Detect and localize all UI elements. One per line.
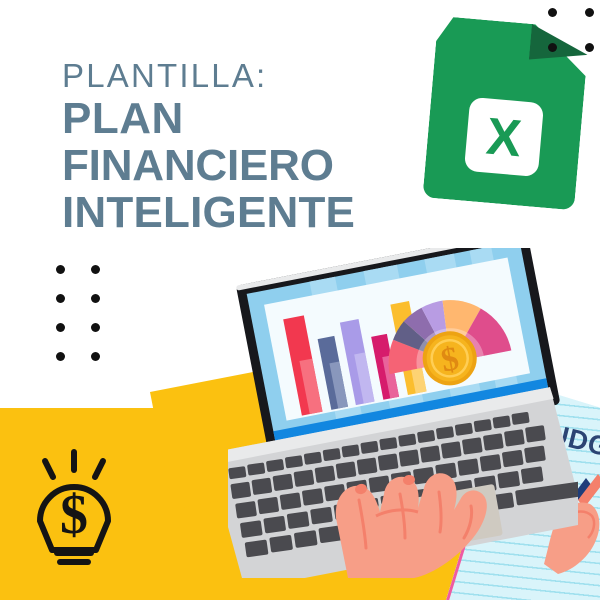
decorative-dot xyxy=(91,265,100,274)
keyboard-key[interactable] xyxy=(524,445,546,463)
keyboard-key[interactable] xyxy=(293,470,314,487)
keyboard-key[interactable] xyxy=(511,412,529,425)
keyboard-key[interactable] xyxy=(263,516,286,534)
dot-grid-left xyxy=(56,265,100,361)
excel-letter-x: X xyxy=(464,97,544,177)
lightbulb-dollar-sign: $ xyxy=(60,484,88,546)
keyboard-key[interactable] xyxy=(230,482,251,499)
keyboard-key[interactable] xyxy=(455,423,473,436)
decorative-dot xyxy=(56,294,65,303)
decorative-dot xyxy=(91,294,100,303)
decorative-dot xyxy=(91,352,100,361)
decorative-dot xyxy=(585,43,594,52)
keyboard-key[interactable] xyxy=(315,465,336,482)
keyboard-key[interactable] xyxy=(360,441,378,454)
keyboard-key[interactable] xyxy=(379,437,397,450)
keyboard-key[interactable] xyxy=(341,444,359,457)
headline-kicker: PLANTILLA: xyxy=(62,57,462,95)
keyboard-key[interactable] xyxy=(294,530,318,548)
keyboard-key[interactable] xyxy=(441,441,462,458)
headline-block: PLANTILLA: PLAN FINANCIERO INTELIGENTE xyxy=(62,57,462,236)
headline-line-3: INTELIGENTE xyxy=(62,189,462,236)
keyboard-key[interactable] xyxy=(287,511,310,529)
lightbulb-rays xyxy=(45,452,103,477)
keyboard-key[interactable] xyxy=(457,458,479,476)
keyboard-key[interactable] xyxy=(310,507,333,525)
keyboard-key[interactable] xyxy=(399,449,420,466)
keyboard-key[interactable] xyxy=(398,434,416,447)
keyboard-key[interactable] xyxy=(521,466,544,484)
keyboard-key[interactable] xyxy=(272,474,293,491)
dot-grid-top-right xyxy=(548,8,594,52)
keyboard-key[interactable] xyxy=(302,488,324,506)
keyboard-key[interactable] xyxy=(285,455,303,468)
keyboard-key[interactable] xyxy=(417,430,435,443)
headline-line-2: FINANCIERO xyxy=(62,142,462,189)
laptop-illustration: $ xyxy=(228,248,578,578)
keyboard-key[interactable] xyxy=(266,459,284,472)
keyboard-key[interactable] xyxy=(245,540,269,558)
keyboard-key[interactable] xyxy=(240,520,263,538)
keyboard-key[interactable] xyxy=(323,448,341,461)
decorative-dot xyxy=(91,323,100,332)
keyboard-key[interactable] xyxy=(525,425,546,442)
keyboard-key[interactable] xyxy=(480,454,502,472)
keyboard-key[interactable] xyxy=(247,462,265,475)
keyboard-key[interactable] xyxy=(251,478,272,495)
keyboard-key[interactable] xyxy=(420,445,441,462)
keyboard-key[interactable] xyxy=(436,426,454,439)
keyboard-key[interactable] xyxy=(336,461,357,478)
keyboard-key[interactable] xyxy=(304,452,322,465)
keyboard-key[interactable] xyxy=(502,450,524,468)
lightbulb-base xyxy=(57,553,91,562)
decorative-dot xyxy=(585,8,594,17)
keyboard-key[interactable] xyxy=(235,501,257,519)
decorative-dot xyxy=(56,352,65,361)
decorative-dot xyxy=(56,265,65,274)
keyboard-key[interactable] xyxy=(483,433,504,450)
keyboard-key[interactable] xyxy=(257,497,279,515)
headline-line-1: PLAN xyxy=(62,95,462,142)
keyboard-key[interactable] xyxy=(492,415,510,428)
keyboard-key[interactable] xyxy=(357,457,378,474)
keyboard-key[interactable] xyxy=(280,492,302,510)
keyboard-key[interactable] xyxy=(228,466,246,479)
keyboard-key[interactable] xyxy=(269,535,293,553)
keyboard-key[interactable] xyxy=(378,453,399,470)
decorative-dot xyxy=(548,8,557,17)
poster-canvas: PLANTILLA: PLAN FINANCIERO INTELIGENTE X xyxy=(0,0,600,600)
keyboard-key[interactable] xyxy=(497,471,520,489)
decorative-dot xyxy=(56,323,65,332)
lightbulb-dollar-icon: $ xyxy=(26,448,122,566)
keyboard-key[interactable] xyxy=(504,429,525,446)
decorative-dot xyxy=(548,43,557,52)
keyboard-key[interactable] xyxy=(474,419,492,432)
keyboard-key[interactable] xyxy=(462,437,483,454)
